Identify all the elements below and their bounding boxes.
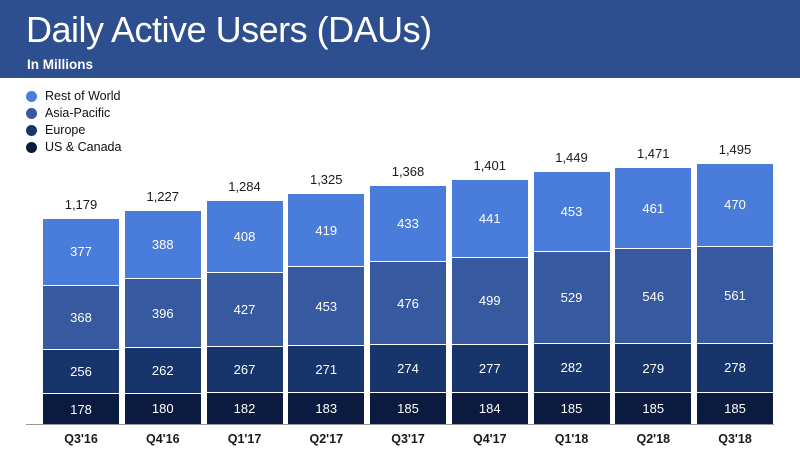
bar-segment[interactable]: 178 — [43, 393, 119, 424]
bar-group[interactable]: 1,471461546279185 — [615, 146, 691, 424]
bar-segment[interactable]: 408 — [207, 201, 283, 272]
bar-group[interactable]: 1,179377368256178 — [43, 197, 119, 424]
x-axis-line — [26, 424, 774, 425]
legend-item[interactable]: US & Canada — [26, 139, 121, 155]
legend-swatch-icon — [26, 142, 37, 153]
bar-segment-value: 529 — [561, 291, 583, 304]
chart-legend: Rest of WorldAsia-PacificEuropeUS & Cana… — [26, 88, 121, 156]
bar-segment[interactable]: 282 — [534, 343, 610, 392]
bar-group[interactable]: 1,284408427267182 — [207, 179, 283, 424]
bar-total-label: 1,179 — [43, 197, 119, 212]
bar-segment[interactable]: 185 — [370, 392, 446, 424]
bar-segment-value: 368 — [70, 311, 92, 324]
bar-segment-value: 470 — [724, 198, 746, 211]
bar-segment-value: 282 — [561, 361, 583, 374]
bar-segment[interactable]: 267 — [207, 346, 283, 392]
bar-segment-value: 262 — [152, 364, 174, 377]
bar-segment-value: 274 — [397, 362, 419, 375]
bar-segment[interactable]: 368 — [43, 285, 119, 349]
bar-segment-value: 182 — [234, 402, 256, 415]
bar-segment[interactable]: 278 — [697, 343, 773, 391]
bar-total-label: 1,449 — [534, 150, 610, 165]
bar-segment-value: 561 — [724, 289, 746, 302]
bar-segment[interactable]: 377 — [43, 219, 119, 285]
legend-item[interactable]: Asia-Pacific — [26, 105, 121, 121]
bar-stack: 453529282185 — [534, 172, 610, 424]
bar-segment-value: 433 — [397, 217, 419, 230]
bar-segment[interactable]: 388 — [125, 211, 201, 278]
bar-total-label: 1,284 — [207, 179, 283, 194]
bar-segment-value: 271 — [315, 363, 337, 376]
x-axis-tick-label: Q4'17 — [452, 432, 528, 446]
bar-segment[interactable]: 185 — [697, 392, 773, 424]
x-axis-tick-label: Q4'16 — [125, 432, 201, 446]
bar-group[interactable]: 1,401441499277184 — [452, 158, 528, 424]
bar-segment[interactable]: 185 — [534, 392, 610, 424]
bar-segment[interactable]: 529 — [534, 251, 610, 343]
bar-segment-value: 183 — [315, 402, 337, 415]
bar-segment[interactable]: 277 — [452, 344, 528, 392]
bar-segment-value: 476 — [397, 297, 419, 310]
bar-segment[interactable]: 180 — [125, 393, 201, 424]
bar-segment[interactable]: 262 — [125, 347, 201, 393]
bar-stack: 441499277184 — [452, 180, 528, 424]
bar-segment-value: 453 — [561, 205, 583, 218]
x-axis-tick-label: Q1'17 — [207, 432, 283, 446]
bar-segment-value: 546 — [642, 290, 664, 303]
legend-item-label: Asia-Pacific — [45, 106, 110, 120]
bar-stack: 419453271183 — [288, 194, 364, 424]
bar-group[interactable]: 1,449453529282185 — [534, 150, 610, 424]
bar-total-label: 1,368 — [370, 164, 446, 179]
bar-segment-value: 408 — [234, 230, 256, 243]
bar-segment-value: 278 — [724, 361, 746, 374]
bar-segment-value: 185 — [724, 402, 746, 415]
bar-segment-value: 180 — [152, 402, 174, 415]
bar-segment[interactable]: 561 — [697, 246, 773, 344]
bar-segment-value: 267 — [234, 363, 256, 376]
bar-stack: 408427267182 — [207, 201, 283, 424]
bar-segment[interactable]: 476 — [370, 261, 446, 344]
bar-segment-value: 178 — [70, 403, 92, 416]
bar-segment-value: 256 — [70, 365, 92, 378]
bar-segment[interactable]: 396 — [125, 278, 201, 347]
bar-segment[interactable]: 184 — [452, 392, 528, 424]
x-axis-tick-label: Q1'18 — [534, 432, 610, 446]
bar-segment[interactable]: 433 — [370, 186, 446, 261]
bar-stack: 433476274185 — [370, 186, 446, 424]
bar-stack: 461546279185 — [615, 168, 691, 424]
bar-segment-value: 441 — [479, 212, 501, 225]
bar-stack: 388396262180 — [125, 211, 201, 424]
bar-group[interactable]: 1,495470561278185 — [697, 142, 773, 424]
bar-segment-value: 377 — [70, 245, 92, 258]
bar-segment-value: 499 — [479, 294, 501, 307]
legend-swatch-icon — [26, 108, 37, 119]
bar-total-label: 1,325 — [288, 172, 364, 187]
x-axis-tick-label: Q3'17 — [370, 432, 446, 446]
chart-plot-area: 1,1793773682561781,2273883962621801,2844… — [0, 0, 800, 464]
bar-stack: 470561278185 — [697, 164, 773, 424]
bar-group[interactable]: 1,227388396262180 — [125, 189, 201, 424]
bar-total-label: 1,471 — [615, 146, 691, 161]
bar-segment-value: 396 — [152, 307, 174, 320]
bar-total-label: 1,495 — [697, 142, 773, 157]
bar-segment-value: 388 — [152, 238, 174, 251]
bar-segment[interactable]: 441 — [452, 180, 528, 257]
legend-item-label: Europe — [45, 123, 85, 137]
x-axis-tick-label: Q3'16 — [43, 432, 119, 446]
legend-item[interactable]: Europe — [26, 122, 121, 138]
legend-item[interactable]: Rest of World — [26, 88, 121, 104]
legend-item-label: Rest of World — [45, 89, 121, 103]
bar-group[interactable]: 1,325419453271183 — [288, 172, 364, 424]
bar-segment[interactable]: 183 — [288, 392, 364, 424]
bar-segment-value: 279 — [642, 362, 664, 375]
bar-segment[interactable]: 470 — [697, 164, 773, 246]
bar-segment-value: 185 — [642, 402, 664, 415]
legend-item-label: US & Canada — [45, 140, 121, 154]
bar-segment-value: 185 — [397, 402, 419, 415]
bar-segment[interactable]: 427 — [207, 272, 283, 346]
bar-segment[interactable]: 499 — [452, 257, 528, 344]
bar-segment[interactable]: 546 — [615, 248, 691, 343]
bar-segment-value: 427 — [234, 303, 256, 316]
bar-segment[interactable]: 419 — [288, 194, 364, 267]
bar-segment[interactable]: 279 — [615, 343, 691, 392]
bar-total-label: 1,227 — [125, 189, 201, 204]
slide-root: Daily Active Users (DAUs) In Millions Re… — [0, 0, 800, 464]
bar-group[interactable]: 1,368433476274185 — [370, 164, 446, 424]
bar-segment[interactable]: 271 — [288, 345, 364, 392]
legend-swatch-icon — [26, 91, 37, 102]
bar-segment[interactable]: 274 — [370, 344, 446, 392]
bar-segment[interactable]: 185 — [615, 392, 691, 424]
bar-segment[interactable]: 453 — [534, 172, 610, 251]
bar-segment-value: 184 — [479, 402, 501, 415]
x-axis-tick-label: Q2'17 — [288, 432, 364, 446]
bar-stack: 377368256178 — [43, 219, 119, 424]
x-axis-tick-label: Q3'18 — [697, 432, 773, 446]
bar-segment-value: 185 — [561, 402, 583, 415]
bar-segment-value: 277 — [479, 362, 501, 375]
bar-segment[interactable]: 256 — [43, 349, 119, 394]
bar-segment-value: 419 — [315, 224, 337, 237]
bar-segment[interactable]: 182 — [207, 392, 283, 424]
bar-segment-value: 453 — [315, 300, 337, 313]
bar-segment-value: 461 — [642, 202, 664, 215]
bar-total-label: 1,401 — [452, 158, 528, 173]
bar-segment[interactable]: 461 — [615, 168, 691, 248]
legend-swatch-icon — [26, 125, 37, 136]
bar-segment[interactable]: 453 — [288, 266, 364, 345]
x-axis-tick-label: Q2'18 — [615, 432, 691, 446]
